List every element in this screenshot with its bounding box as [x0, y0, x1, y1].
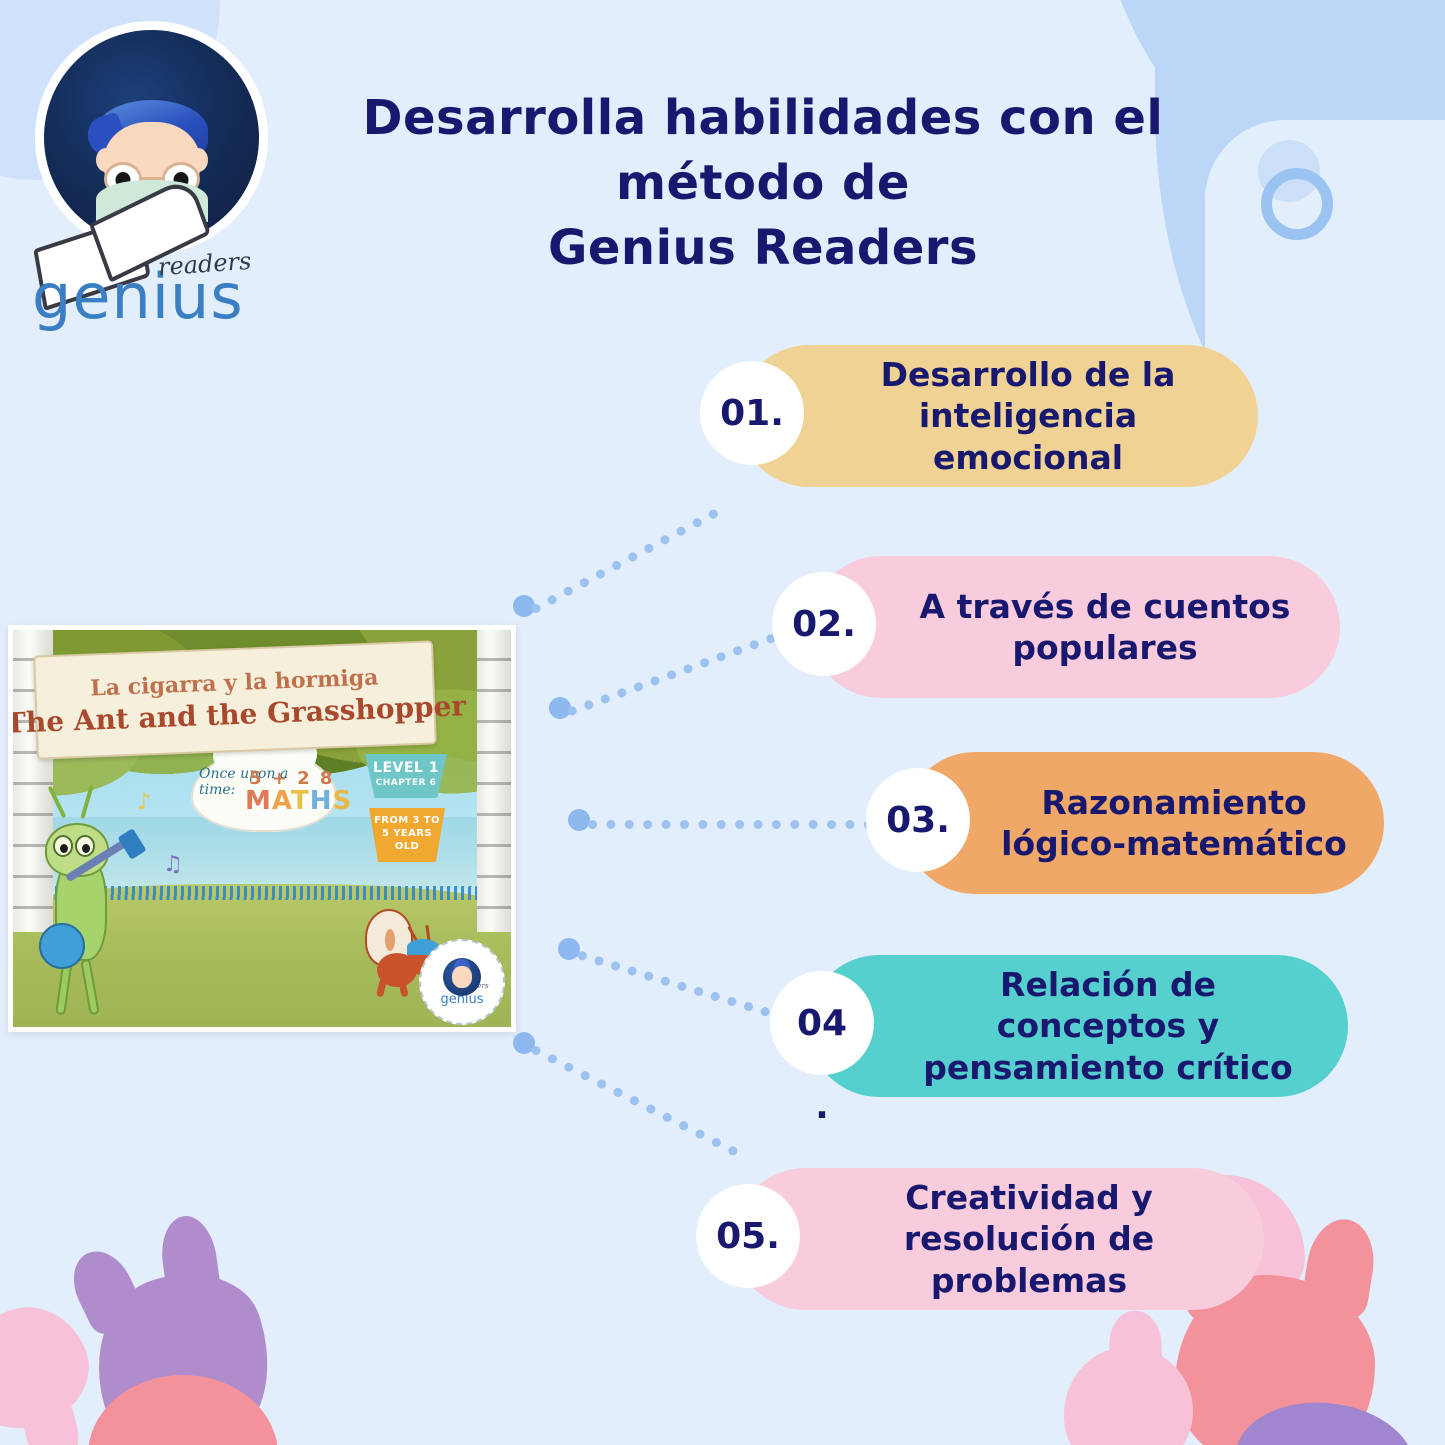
- item-pill-2[interactable]: A través de cuentos populares: [810, 556, 1340, 698]
- music-note-icon-2: ♫: [163, 852, 183, 877]
- item-pill-5[interactable]: Creatividad y resolución de problemas: [734, 1168, 1264, 1310]
- item-pill-1[interactable]: Desarrollo de la inteligencia emocional: [738, 345, 1258, 487]
- list-item[interactable]: 04 . Relación de conceptos y pensamiento…: [770, 955, 1348, 1097]
- list-item[interactable]: 03. Razonamiento lógico-matemático: [866, 752, 1384, 894]
- book-subject-maths: MATHS: [245, 786, 352, 816]
- music-note-icon-1: ♪: [137, 790, 151, 815]
- connector-line-2: [566, 627, 793, 717]
- maths-letter-m: M: [245, 786, 272, 816]
- item-number-period-4: .: [815, 1086, 829, 1127]
- item-pill-3[interactable]: Razonamiento lógico-matemático: [904, 752, 1384, 894]
- maths-letter-h: H: [310, 786, 333, 816]
- connector-line-5: [530, 1044, 739, 1156]
- connector-line-1: [530, 508, 720, 615]
- item-pill-4[interactable]: Relación de conceptos y pensamiento crít…: [808, 955, 1348, 1097]
- item-number-badge-1: 01.: [700, 361, 804, 465]
- maths-letter-a: A: [272, 786, 291, 816]
- maths-letter-t: T: [291, 786, 310, 816]
- list-item[interactable]: 02. A través de cuentos populares: [772, 556, 1340, 698]
- list-item[interactable]: 01. Desarrollo de la inteligencia emocio…: [700, 345, 1258, 487]
- connector-dot-3: [568, 809, 590, 831]
- connector-line-3: [588, 820, 873, 829]
- item-number-badge-4: 04 .: [770, 971, 874, 1075]
- item-number-badge-2: 02.: [772, 572, 876, 676]
- list-item[interactable]: 05. Creatividad y resolución de problema…: [696, 1168, 1264, 1310]
- item-number-badge-3: 03.: [866, 768, 970, 872]
- infographic-poster: genius readers Desarrolla habilidades co…: [0, 0, 1445, 1445]
- item-number-badge-5: 05.: [696, 1184, 800, 1288]
- item-number-text-4: 04: [797, 1003, 847, 1044]
- maths-letter-s: S: [333, 786, 353, 816]
